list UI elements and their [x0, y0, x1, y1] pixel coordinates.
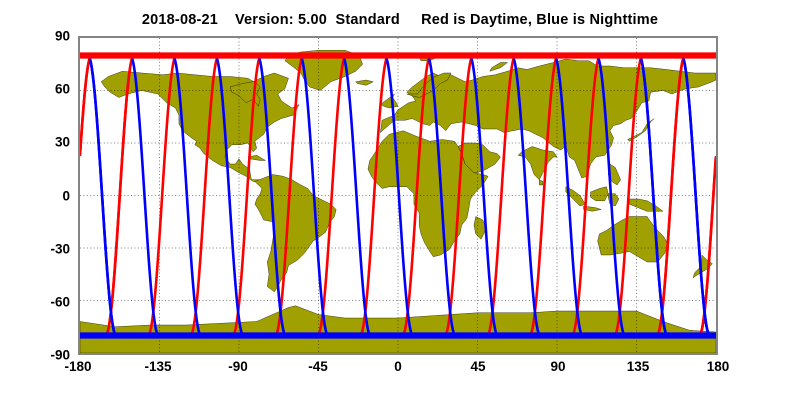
figure-title: 2018-08-21 Version: 5.00 Standard Red is…	[0, 12, 800, 28]
x-axis-tick-label: -180	[64, 359, 91, 374]
x-axis-tick-label: 180	[707, 359, 730, 374]
y-axis-tick-label: 30	[55, 135, 70, 150]
x-axis-tick-label: -90	[228, 359, 248, 374]
y-axis-tick-label: -60	[50, 294, 70, 309]
y-axis-tick-label: 0	[62, 188, 70, 203]
x-axis-tick-label: 135	[627, 359, 650, 374]
landmass-polygon	[380, 94, 398, 108]
y-axis-tick-label: 60	[55, 82, 70, 97]
landmass-polygon	[539, 180, 543, 185]
ground-track-map-figure: 2018-08-21 Version: 5.00 Standard Red is…	[0, 0, 800, 400]
landmass-polygon	[591, 187, 609, 201]
x-axis-tick-label: 90	[550, 359, 565, 374]
landmass-polygon	[356, 80, 374, 85]
x-axis-tick-label: -135	[144, 359, 171, 374]
ground-track-path	[80, 56, 91, 155]
y-axis-tick-label: -30	[50, 241, 70, 256]
ground-track-path	[699, 157, 716, 335]
plot-area	[78, 36, 718, 355]
y-axis-tick-label: 90	[55, 29, 70, 44]
x-axis-tick-label: 0	[394, 359, 402, 374]
x-axis-tick-label: 45	[470, 359, 485, 374]
landmass-polygon	[255, 175, 336, 292]
landmass-polygon	[629, 199, 663, 211]
plot-canvas	[80, 38, 716, 353]
x-axis-tick-label: -45	[308, 359, 328, 374]
landmass-polygon	[490, 63, 508, 72]
